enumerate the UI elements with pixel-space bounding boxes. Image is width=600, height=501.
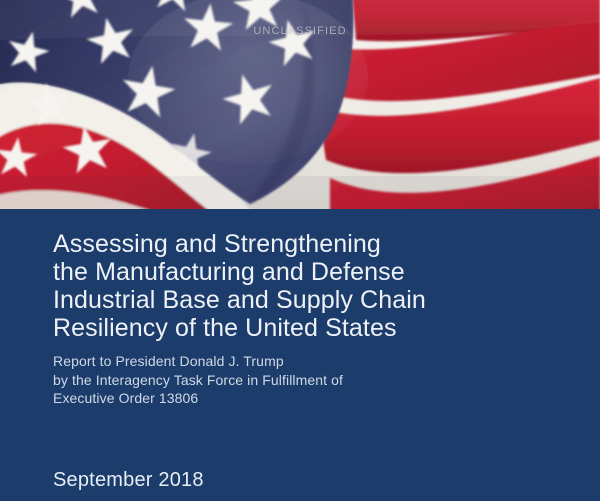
document-subtitle: Report to President Donald J. Trump by t… — [53, 352, 553, 408]
classification-marking: UNCLASSIFIED — [0, 25, 600, 37]
title-line-1: Assessing and Strengthening — [53, 230, 553, 258]
subtitle-line-1: Report to President Donald J. Trump — [53, 352, 553, 371]
title-line-2: the Manufacturing and Defense — [53, 258, 553, 286]
publication-date: September 2018 — [53, 468, 204, 492]
title-line-3: Industrial Base and Supply Chain — [53, 286, 553, 314]
document-cover-page: UNCLASSIFIED Assessing and Strengthening… — [0, 0, 600, 501]
subtitle-line-3: Executive Order 13806 — [53, 389, 553, 408]
title-line-4: Resiliency of the United States — [53, 314, 553, 342]
subtitle-line-2: by the Interagency Task Force in Fulfill… — [53, 371, 553, 390]
cover-title-panel: Assessing and Strengthening the Manufact… — [0, 209, 600, 501]
cover-flag-image: UNCLASSIFIED — [0, 0, 600, 210]
publication-date-block: September 2018 — [53, 468, 204, 492]
document-title: Assessing and Strengthening the Manufact… — [53, 230, 553, 342]
